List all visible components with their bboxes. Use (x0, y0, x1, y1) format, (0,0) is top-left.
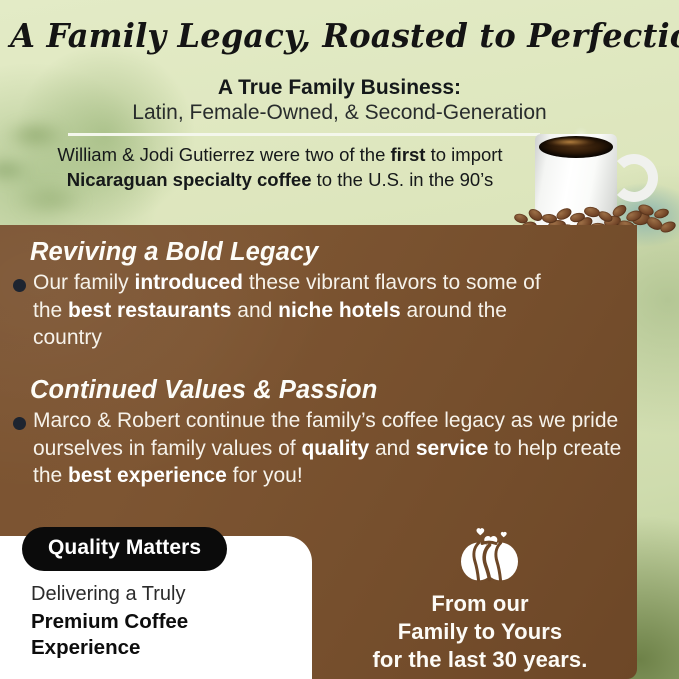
section-body-continued-values-and-passion: Marco & Robert continue the family’s cof… (33, 407, 625, 490)
coffee-crema (544, 137, 596, 147)
closing-message: From our Family to Yours for the last 30… (330, 590, 630, 674)
intro-plain-import: to import (425, 144, 502, 165)
intro-line-1: William & Jodi Gutierrez were two of the (57, 144, 385, 165)
intro-plain-us90s: to the U.S. in the 90’s (312, 169, 494, 190)
coffee-bean-hearts-icon (455, 521, 529, 583)
closing-line-1: From our (330, 590, 630, 618)
closing-line-3: for the last 30 years. (330, 646, 630, 674)
quality-card-line-1: Delivering a Truly (31, 583, 186, 606)
closing-line-2: Family to Yours (330, 618, 630, 646)
quality-card-line-2: Premium CoffeeExperience (31, 609, 188, 661)
intro-bold-coffee: coffee (257, 169, 312, 190)
mug-handle (610, 154, 658, 202)
bullet-point-icon (13, 417, 26, 430)
section-heading-reviving-a-bold-legacy: Reviving a Bold Legacy (30, 238, 318, 267)
coffee-mug-image (510, 122, 679, 240)
page-title: A Family Legacy, Roasted to Perfection (10, 16, 669, 55)
subtitle-primary: A True Family Business: (0, 76, 679, 100)
section-heading-continued-values-and-passion: Continued Values & Passion (30, 376, 377, 405)
bullet-point-icon (13, 279, 26, 292)
intro-paragraph: William & Jodi Gutierrez were two of the… (30, 142, 530, 192)
coffee-bean (653, 207, 670, 220)
header-divider (68, 133, 540, 136)
intro-bold-nicaraguan: Nicaraguan specialty (67, 169, 252, 190)
quality-matters-badge: Quality Matters (22, 527, 227, 571)
section-body-reviving-a-bold-legacy: Our family introduced these vibrant flav… (33, 269, 573, 352)
intro-bold-first: first (391, 144, 426, 165)
